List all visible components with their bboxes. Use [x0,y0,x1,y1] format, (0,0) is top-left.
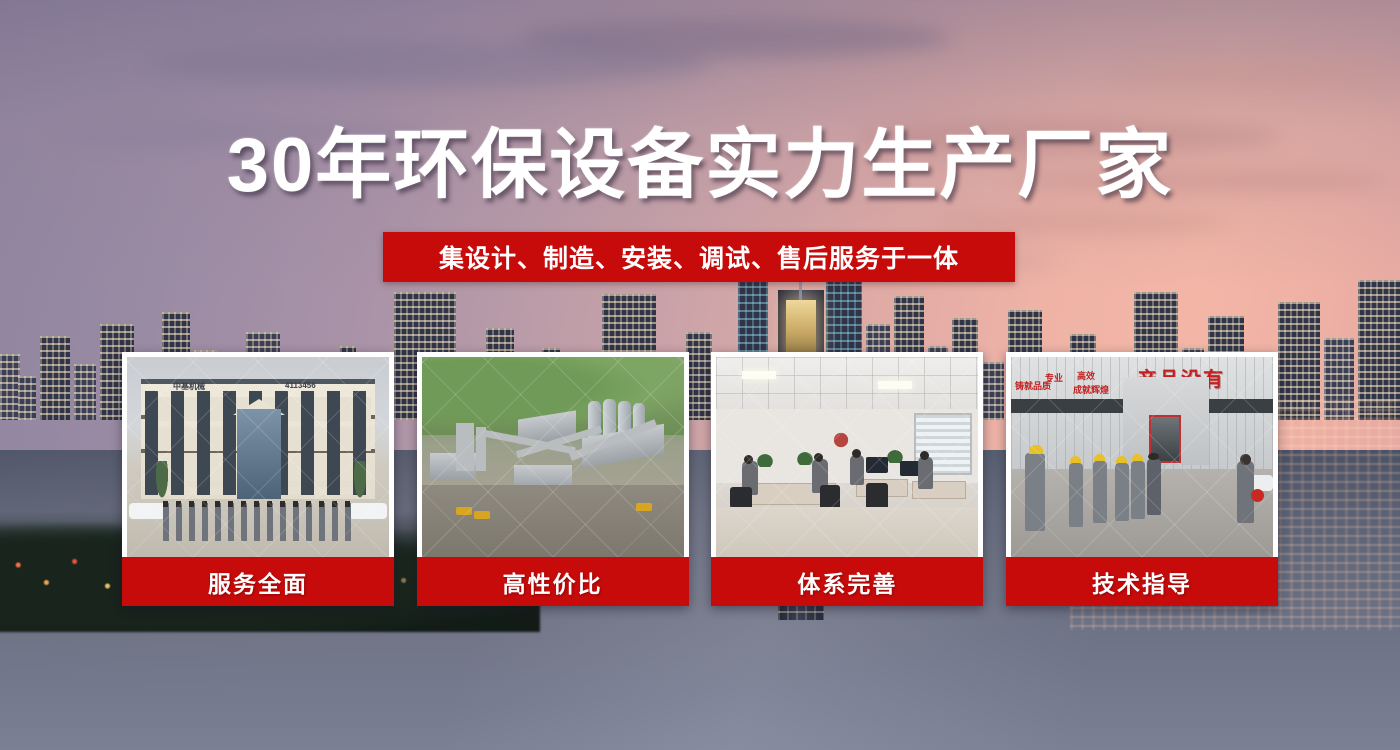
factory-wall-slogan-small: 专业 [1045,371,1063,384]
feature-card-row: 中基机械 4113456 服务全面 [122,352,1278,606]
card-caption: 服务全面 [122,557,394,606]
card-caption-label: 高性价比 [503,565,603,599]
subtitle-banner: 集设计、制造、安装、调试、售后服务于一体 [383,232,1015,282]
card-caption: 体系完善 [711,557,983,606]
feature-card[interactable]: 产品没有 铸就品质 专业 高效 成就辉煌 [1006,352,1278,606]
card-caption-label: 体系完善 [797,565,897,599]
page-title: 30年环保设备实力生产厂家 [0,128,1400,204]
feature-card[interactable]: 中基机械 4113456 服务全面 [122,352,394,606]
landmark-tower-crown [786,300,816,358]
promo-banner: 30年环保设备实力生产厂家 集设计、制造、安装、调试、售后服务于一体 中基机械 … [0,0,1400,750]
card-caption: 高性价比 [417,557,689,606]
card-caption: 技术指导 [1006,557,1278,606]
feature-card[interactable]: 体系完善 [711,352,983,606]
factory-wall-slogan-small: 成就辉煌 [1073,383,1109,396]
card-photo-headquarters: 中基机械 4113456 [127,357,389,557]
factory-wall-slogan-small: 高效 [1077,369,1095,382]
card-photo-industrial-plant [422,357,684,557]
card-caption-label: 技术指导 [1092,565,1192,599]
feature-card[interactable]: 高性价比 [417,352,689,606]
building-phone-text: 4113456 [285,381,316,390]
card-caption-label: 服务全面 [208,565,308,599]
building-sign-text: 中基机械 [173,381,205,392]
subtitle-text: 集设计、制造、安装、调试、售后服务于一体 [439,239,959,275]
card-photo-office-interior [716,357,978,557]
card-photo-worker-training: 产品没有 铸就品质 专业 高效 成就辉煌 [1011,357,1273,557]
